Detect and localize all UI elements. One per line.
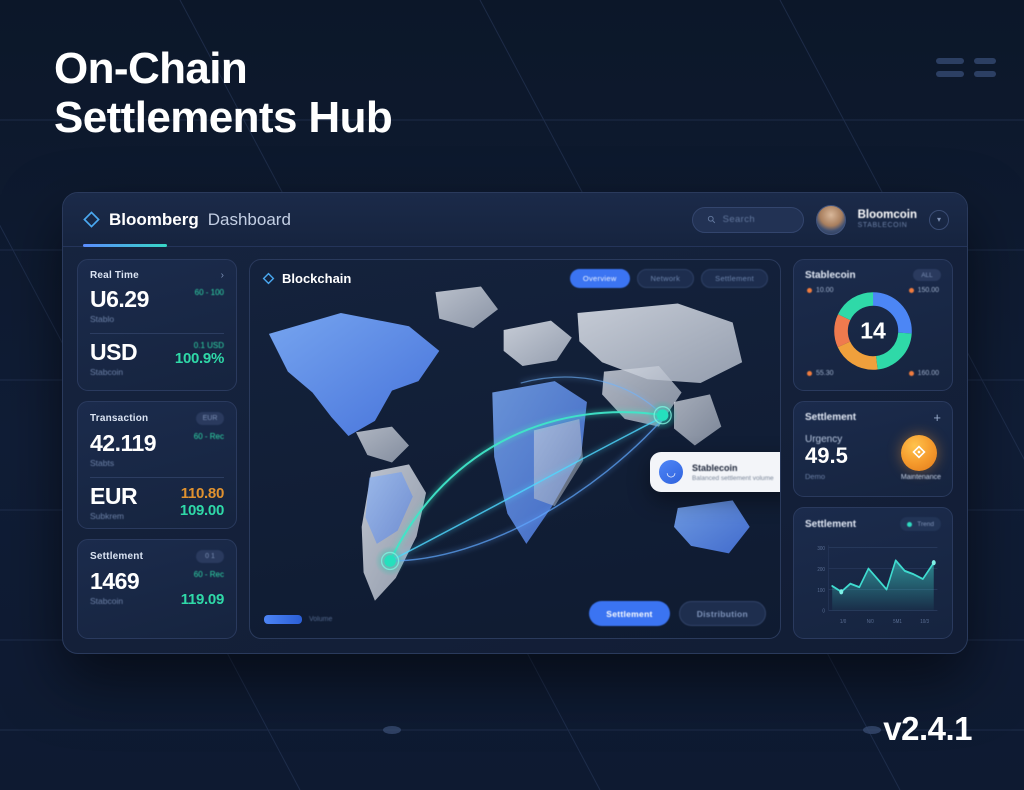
donut-title: Stablecoin [805, 270, 856, 281]
brand[interactable]: Bloomberg Dashboard [83, 210, 291, 230]
kpi-big-value: 109.00 [180, 502, 224, 519]
avatar[interactable] [816, 205, 846, 235]
map-header: Blockchain Overview Network Settlement [250, 260, 780, 288]
kpi-chip: EUR [196, 412, 224, 425]
donut-legend-item: 150.00 [909, 287, 939, 294]
urgency-subtitle: Demo [805, 472, 848, 481]
stablecoin-icon: ◡ [659, 460, 683, 484]
legend-label: Volume [309, 616, 332, 623]
kpi-delta: 60 - 100 [195, 288, 224, 297]
kpi-big-value: 100.9% [175, 350, 224, 367]
stablecoin-donut-card[interactable]: Stablecoin ALL 14 [793, 259, 953, 391]
svg-text:300: 300 [817, 545, 825, 552]
kpi-column: Real Time › U6.29 Stablo 60 - 100 USD St… [77, 259, 237, 639]
kpi-value: 1469 [90, 570, 139, 593]
map-actions: Settlement Distribution [589, 601, 766, 626]
kpi-subtitle: Stabcoin [90, 596, 139, 606]
distribution-button[interactable]: Distribution [679, 601, 766, 626]
title-line-1: On-Chain [54, 44, 392, 93]
trend-chart: 300 200 100 0 1/0 N/0 5M1 10/3 [805, 536, 941, 629]
brand-name: Bloomberg [109, 210, 199, 230]
map-title: Blockchain [282, 271, 351, 286]
dashboard-body: Real Time › U6.29 Stablo 60 - 100 USD St… [63, 247, 967, 653]
svg-text:5M1: 5M1 [893, 619, 902, 626]
divider [90, 477, 224, 478]
kpi-currency: USD [90, 341, 137, 364]
kpi-value: 42.119 [90, 432, 156, 455]
dashboard-window: Bloomberg Dashboard Search Bloomcoin STA… [62, 192, 968, 654]
right-column: Stablecoin ALL 14 [793, 259, 953, 639]
map-tooltip[interactable]: ◡ Stablecoin Balanced settlement volume [650, 452, 781, 492]
map-panel: Blockchain Overview Network Settlement ◡… [249, 259, 781, 639]
kpi-chip: 0 1 [196, 550, 224, 563]
user-block[interactable]: Bloomcoin STABLECOIN [858, 208, 917, 231]
trend-title: Settlement [805, 519, 856, 530]
search-icon [707, 215, 716, 224]
tab-overview[interactable]: Overview [570, 269, 630, 288]
donut-legend-item: 160.00 [909, 370, 939, 377]
diamond-icon [262, 272, 275, 285]
world-map[interactable] [250, 260, 780, 639]
kpi-delta: 60 - Rec [181, 570, 224, 579]
kpi-currency-delta: 0.1 USD [175, 341, 224, 350]
kpi-subtitle: Stabts [90, 458, 156, 468]
map-tabs: Overview Network Settlement [570, 269, 768, 288]
diamond-icon [83, 211, 100, 228]
svg-text:N/0: N/0 [867, 619, 874, 626]
settlement-button[interactable]: Settlement [589, 601, 669, 626]
page-title: On-Chain Settlements Hub [54, 44, 392, 143]
donut-legend-item: 10.00 [807, 287, 834, 294]
kpi-subtitle: Stablo [90, 314, 149, 324]
kpi-title: Transaction [90, 413, 148, 424]
user-role: STABLECOIN [858, 222, 917, 231]
brand-underline [83, 244, 167, 247]
dashboard-header: Bloomberg Dashboard Search Bloomcoin STA… [63, 193, 967, 247]
title-line-2: Settlements Hub [54, 93, 392, 142]
version-label: v2.4.1 [883, 710, 972, 748]
divider [90, 333, 224, 334]
chevron-right-icon[interactable]: › [221, 270, 224, 281]
kpi-currency-delta: 110.80 [180, 485, 224, 502]
tooltip-subtitle: Balanced settlement volume [692, 475, 774, 482]
svg-text:0: 0 [822, 608, 825, 615]
kpi-card-settlement[interactable]: Settlement 0 1 1469 Stabcoin 60 - Rec 11… [77, 539, 237, 639]
brand-subtitle: Dashboard [208, 210, 291, 230]
plus-icon[interactable]: + [933, 411, 941, 424]
donut-chip[interactable]: ALL [913, 269, 941, 281]
kpi-delta: 60 - Rec [194, 432, 224, 441]
svg-text:100: 100 [817, 587, 825, 594]
settlement-trend-card[interactable]: Settlement Trend [793, 507, 953, 639]
kpi-card-realtime[interactable]: Real Time › U6.29 Stablo 60 - 100 USD St… [77, 259, 237, 391]
kpi-title: Settlement [90, 551, 143, 562]
kpi-title: Real Time [90, 270, 139, 281]
svg-text:10/3: 10/3 [920, 619, 929, 626]
header-actions: Search Bloomcoin STABLECOIN ▾ [692, 205, 949, 235]
coin-icon: ⟐ [901, 435, 937, 471]
decorative-marks [936, 58, 996, 77]
tooltip-title: Stablecoin [692, 463, 774, 473]
search-input[interactable]: Search [692, 207, 804, 233]
svg-text:200: 200 [817, 566, 825, 573]
donut-legend-item: 55.30 [807, 370, 834, 377]
legend-bar [264, 615, 302, 624]
svg-text:1/0: 1/0 [840, 619, 846, 626]
kpi-currency: EUR [90, 485, 137, 508]
urgency-value: 49.5 [805, 445, 848, 467]
search-placeholder: Search [723, 214, 756, 225]
user-name: Bloomcoin [858, 208, 917, 222]
kpi-big-value: 119.09 [181, 591, 224, 608]
donut-chart: 14 10.00 150.00 55.30 160.00 [805, 283, 941, 379]
kpi-currency-subtitle: Stabcoin [90, 367, 137, 377]
map-legend: Volume [264, 615, 332, 624]
donut-center-value: 14 [805, 318, 941, 345]
kpi-value: U6.29 [90, 288, 149, 311]
coin-caption: Maintenance [901, 474, 941, 481]
settlement-urgency-card[interactable]: Settlement + Urgency 49.5 Demo ⟐ Mainten… [793, 401, 953, 497]
kpi-currency-subtitle: Subkrem [90, 511, 137, 521]
chevron-down-icon[interactable]: ▾ [929, 210, 949, 230]
urgency-title: Settlement [805, 412, 856, 423]
trend-legend: Trend [900, 517, 941, 531]
tab-network[interactable]: Network [637, 269, 695, 288]
tab-settlement[interactable]: Settlement [701, 269, 768, 288]
kpi-card-transaction[interactable]: Transaction EUR 42.119 Stabts 60 - Rec E… [77, 401, 237, 529]
